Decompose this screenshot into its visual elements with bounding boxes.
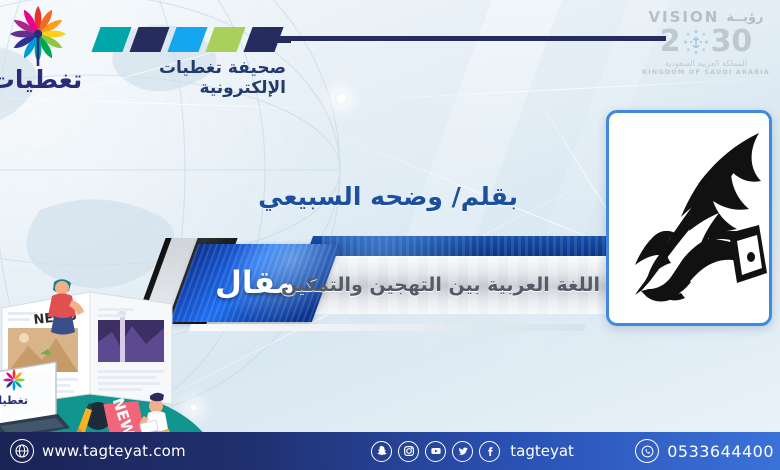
footer-bar: www.tagteyat.com	[0, 432, 780, 470]
facebook-icon[interactable]	[479, 441, 500, 462]
author-line: بقلم/ وضحه السبيعي	[258, 182, 518, 211]
article-title-bar: اللغة العربية بين التهجين والتمكين مقال	[150, 232, 610, 332]
titlebar-blue-strip	[322, 236, 610, 258]
svg-text:تغطيات: تغطيات	[0, 65, 82, 94]
svg-text:تغطيات: تغطيات	[0, 394, 28, 407]
website-url[interactable]: www.tagteyat.com	[42, 442, 186, 460]
twitter-icon[interactable]	[452, 441, 473, 462]
globe-icon	[10, 439, 34, 463]
social-handle[interactable]: tagteyat	[510, 442, 574, 460]
bar-blue	[167, 27, 207, 52]
vision-2030-logo: VISION رؤيــة 2	[640, 8, 772, 72]
snapchat-icon[interactable]	[371, 441, 392, 462]
whatsapp-icon[interactable]	[635, 439, 659, 463]
instagram-icon[interactable]	[398, 441, 419, 462]
titlebar-base-shine	[189, 324, 587, 331]
newspaper-laptop-reader-illustration: NEWS	[0, 276, 194, 444]
bar-navy	[129, 27, 169, 52]
vision-2030-emblem	[682, 28, 710, 56]
social-links: tagteyat	[310, 441, 635, 462]
article-banner: تغطيات صحيفة تغطيات الإلكترونية VISION ر…	[0, 0, 780, 470]
brand-name: صحيفة تغطيات الإلكترونية	[96, 58, 286, 98]
vision-kingdom-ar: المملكة العربية السعودية	[640, 59, 772, 68]
tagteyat-flower-logo[interactable]: تغطيات	[0, 4, 84, 96]
vision-year-right: 30	[711, 27, 753, 57]
vision-word-ar: رؤيــة	[726, 10, 763, 25]
header-rule	[268, 36, 666, 41]
bar-teal	[91, 27, 131, 52]
vision-year-left: 2	[660, 27, 681, 57]
whatsapp-phone[interactable]: 0533644400	[667, 442, 774, 461]
bar-green	[205, 27, 245, 52]
hand-with-quill-pen-icon	[606, 110, 772, 326]
article-title: اللغة العربية بين التهجين والتمكين	[281, 256, 600, 314]
youtube-icon[interactable]	[425, 441, 446, 462]
titlebar-silver-panel: اللغة العربية بين التهجين والتمكين	[268, 256, 610, 314]
vision-kingdom-en: KINGDOM OF SAUDI ARABIA	[640, 68, 772, 76]
